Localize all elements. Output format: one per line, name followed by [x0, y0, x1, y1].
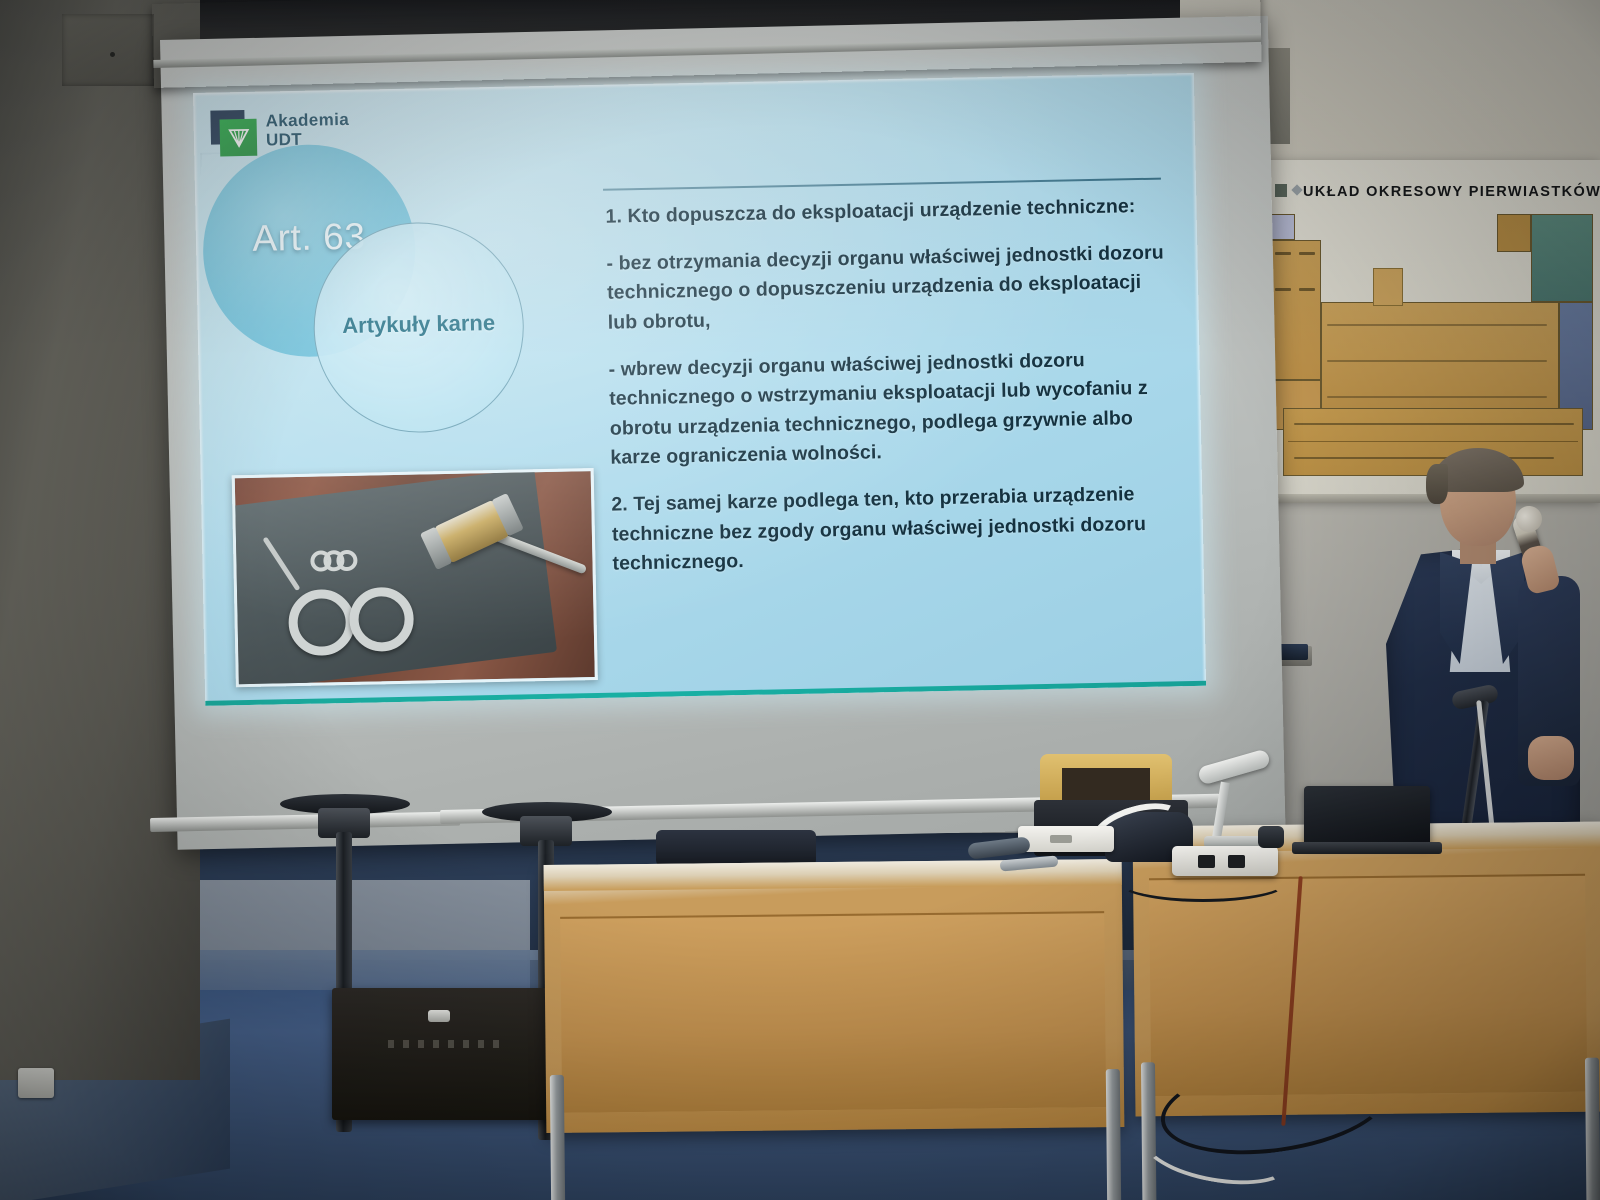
slide-logo-line1: Akademia [265, 110, 349, 131]
handcuff-chain-icon [310, 550, 356, 573]
slide-paragraph: - wbrew decyzji organu właściwej jednost… [608, 344, 1170, 474]
wall-socket-icon [18, 1068, 54, 1098]
equipment-vents [388, 1040, 508, 1048]
poster-badge-icon [1275, 184, 1287, 197]
slide-paragraph: - bez otrzymania decyzji organu właściwe… [606, 238, 1168, 338]
slide-body-text: 1. Kto dopuszcza do eksploatacji urządze… [605, 192, 1172, 580]
av-equipment-box [332, 988, 558, 1120]
presenter-hair [1432, 448, 1524, 492]
presentation-slide: Akademia UDT Art. 63 Artykuły karne 1. K… [193, 73, 1206, 706]
udt-diamond-logo-icon [210, 110, 257, 157]
laptop-base [1292, 842, 1442, 854]
slide-divider [603, 178, 1161, 191]
slide-subtitle: Artykuły karne [314, 309, 522, 339]
adapter-puck [1258, 826, 1284, 848]
slide-subtitle-circle: Artykuły karne [312, 220, 526, 434]
laptop-icon [1304, 786, 1430, 846]
poster-badge-diamond-icon [1291, 184, 1302, 195]
desk-cable [1118, 862, 1288, 902]
chair-icon [656, 830, 816, 866]
power-strip-icon [1018, 826, 1114, 852]
slide-paragraph: 2. Tej samej karze podlega ten, kto prze… [611, 479, 1173, 579]
lecture-hall-scene: UKŁAD OKRESOWY PIERWIASTKÓW [0, 0, 1600, 1200]
wall-bracket [62, 14, 154, 86]
equipment-button [428, 1010, 450, 1022]
handcuffs-and-gavel-photo [232, 468, 598, 687]
slide-paragraph: 1. Kto dopuszcza do eksploatacji urządze… [605, 192, 1165, 233]
presenter-hand-lower [1528, 736, 1574, 780]
poster-title: UKŁAD OKRESOWY PIERWIASTKÓW [1303, 184, 1600, 200]
desk-left [544, 859, 1125, 1133]
poster-legend-cell [1373, 268, 1403, 306]
